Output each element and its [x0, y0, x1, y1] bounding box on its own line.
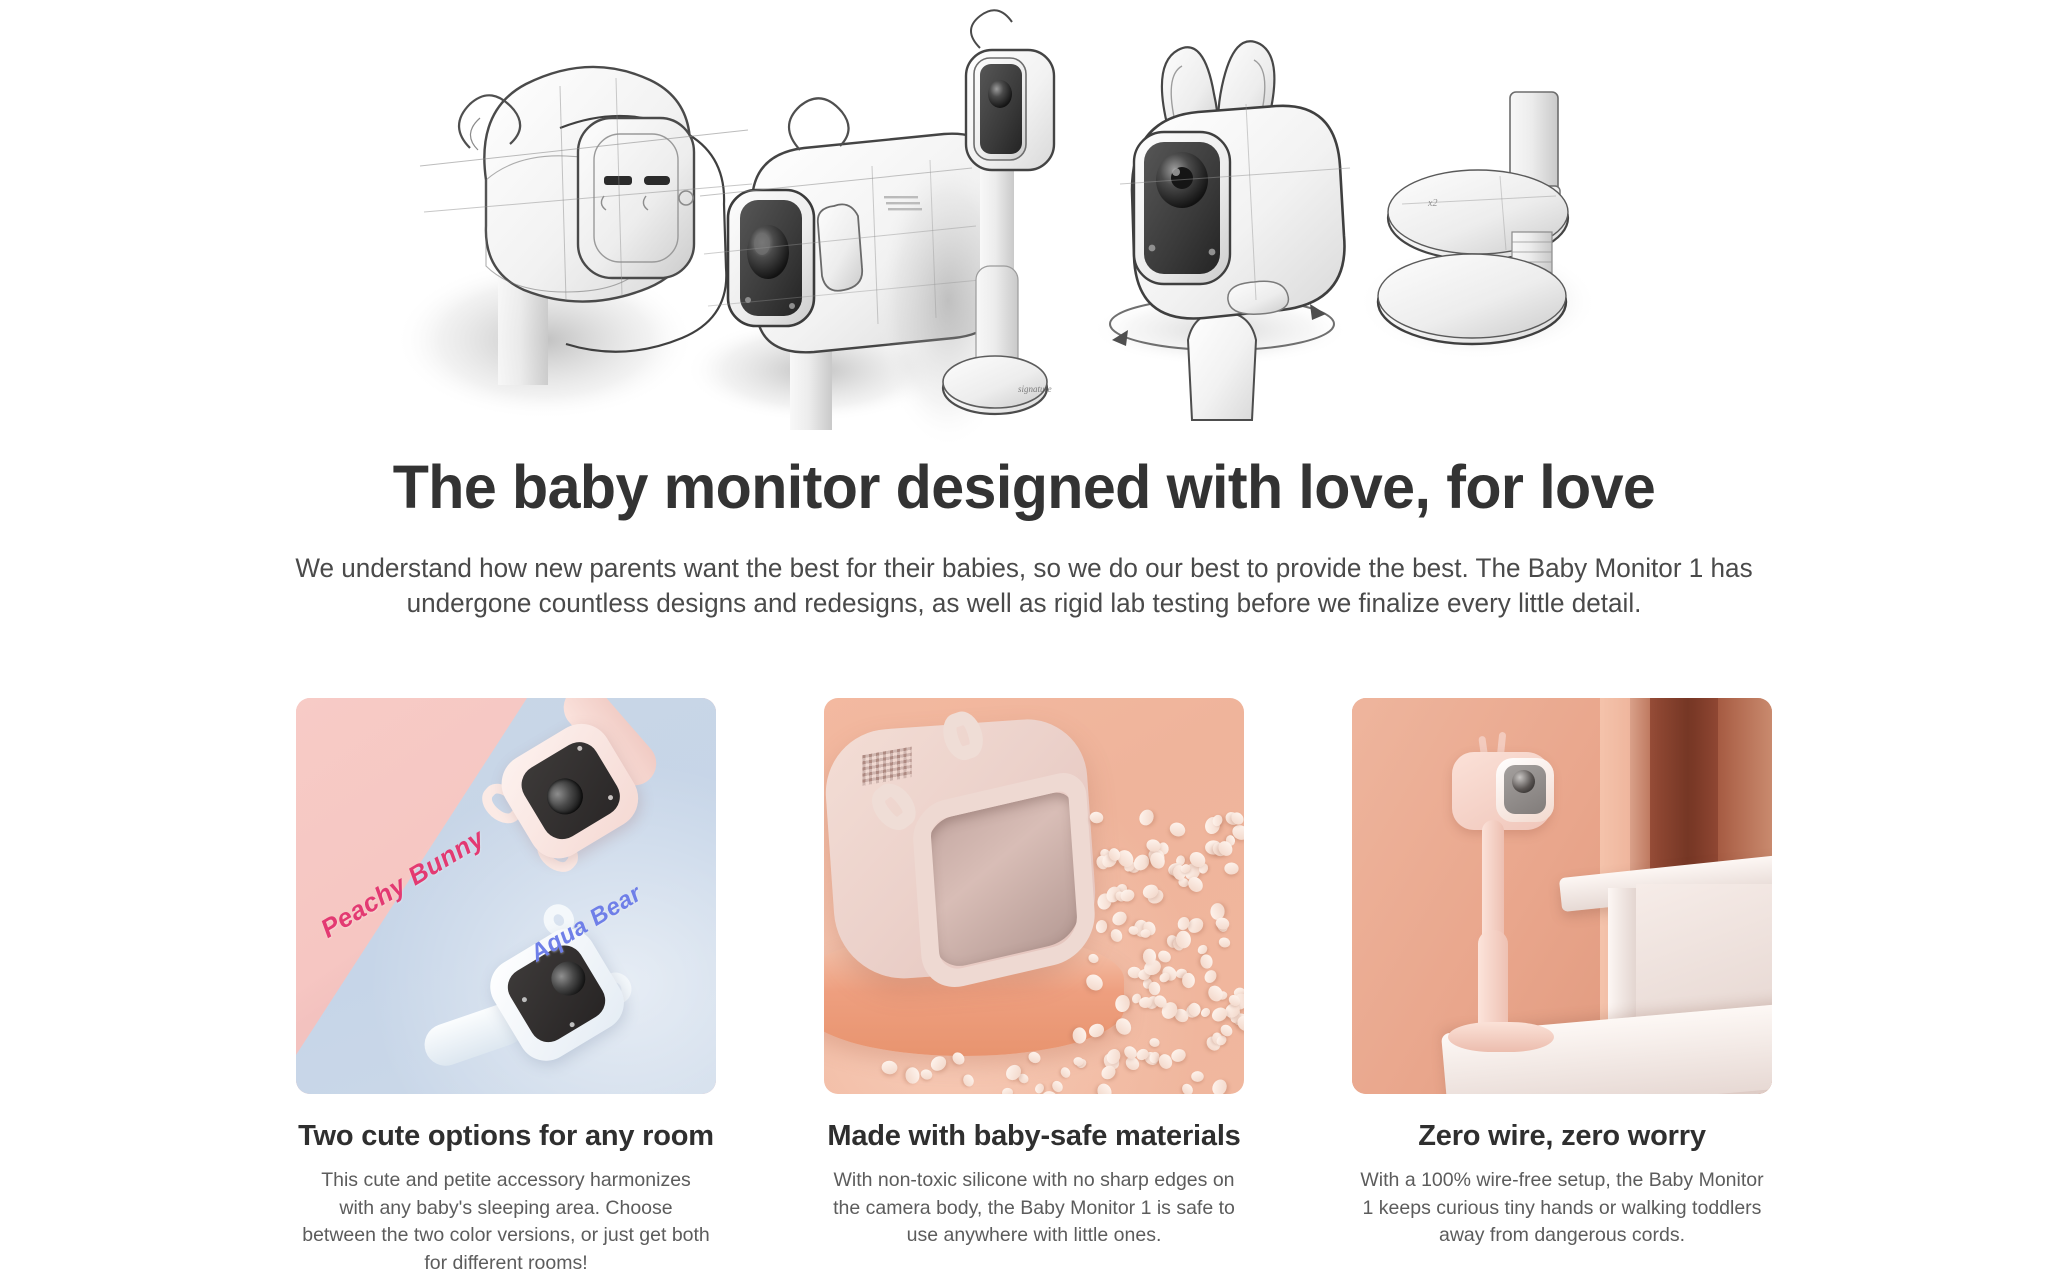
silicone-pellet: [1168, 820, 1188, 839]
silicone-pellet: [1094, 918, 1107, 933]
silicone-pellet: [905, 1066, 921, 1084]
silicone-pellet: [1218, 937, 1232, 949]
silicone-pellet: [1176, 930, 1192, 949]
silicone-pellet: [950, 1050, 967, 1067]
silicone-pellet: [1206, 984, 1226, 1005]
silicone-pellet: [1086, 952, 1099, 965]
silicone-pellet: [1202, 968, 1219, 985]
hero-sketch-strip: signature: [0, 0, 2048, 450]
camera-clamp-base: [1448, 1022, 1554, 1052]
silicone-pellet: [1114, 994, 1131, 1013]
design-sketches-illustration: signature: [0, 0, 2048, 450]
silicone-pellet: [1089, 810, 1104, 823]
silicone-pellet: [1210, 1077, 1230, 1094]
silicone-pellet: [1002, 1087, 1014, 1094]
silicone-pellet: [1180, 1081, 1195, 1094]
svg-text:signature: signature: [1018, 384, 1052, 394]
silicone-pellet: [1148, 1037, 1160, 1048]
sketch-clamp-mount: x2: [1358, 92, 1598, 360]
sketch-bunny-ears-front: [1090, 41, 1350, 420]
page-title: The baby monitor designed with love, for…: [31, 455, 2018, 521]
page-subtitle: We understand how new parents want the b…: [236, 551, 1812, 622]
silicone-pellet: [1136, 807, 1156, 828]
card-baby-safe-materials-image: [824, 698, 1244, 1094]
silicone-pellet: [1108, 927, 1124, 944]
mounted-camera: [1452, 734, 1560, 1034]
silicone-pellet: [1110, 909, 1130, 928]
silicone-pellet: [1224, 862, 1239, 875]
card-zero-wire: Zero wire, zero worry With a 100% wire-f…: [1352, 698, 1772, 1278]
card-baby-safe-materials: Made with baby-safe materials With non-t…: [824, 698, 1244, 1278]
silicone-pellet: [1026, 1049, 1042, 1065]
card-description: With a 100% wire-free setup, the Baby Mo…: [1352, 1167, 1772, 1250]
silicone-pellet: [1083, 971, 1106, 994]
silicone-pellet: [1211, 813, 1224, 827]
sketch-full-stand-front: signature: [876, 10, 1054, 450]
card-color-options: Peachy Bunny Aqua Bear Two cute options …: [296, 698, 716, 1278]
camera-lens-icon: [1512, 770, 1535, 793]
silicone-pellet: [1113, 1015, 1134, 1037]
headline-block: The baby monitor designed with love, for…: [0, 455, 2048, 622]
silicone-pellet: [1072, 1027, 1086, 1044]
silicone-pellet: [1214, 916, 1230, 931]
silicone-pellet: [961, 1073, 975, 1088]
card-zero-wire-image: [1352, 698, 1772, 1094]
card-description: With non-toxic silicone with no sharp ed…: [824, 1167, 1244, 1250]
feature-cards: Peachy Bunny Aqua Bear Two cute options …: [296, 698, 1772, 1278]
camera-neck: [1482, 820, 1504, 946]
card-color-options-image: Peachy Bunny Aqua Bear: [296, 698, 716, 1094]
silicone-pellet: [1059, 1065, 1072, 1079]
silicone-pellets: [824, 698, 1244, 1094]
card-title: Two cute options for any room: [296, 1120, 716, 1153]
svg-text:x2: x2: [1427, 198, 1437, 209]
silicone-pellet: [1182, 973, 1195, 988]
card-description: This cute and petite accessory harmonize…: [296, 1167, 716, 1278]
card-title: Zero wire, zero worry: [1352, 1120, 1772, 1153]
silicone-pellet: [919, 1068, 933, 1081]
silicone-pellet: [1191, 1071, 1204, 1082]
silicone-pellet: [881, 1060, 898, 1075]
card-title: Made with baby-safe materials: [824, 1120, 1244, 1153]
silicone-pellet: [1199, 954, 1214, 971]
silicone-pellet: [1095, 1082, 1114, 1094]
silicone-pellet: [1087, 1021, 1106, 1039]
silicone-pellet: [1140, 929, 1151, 938]
